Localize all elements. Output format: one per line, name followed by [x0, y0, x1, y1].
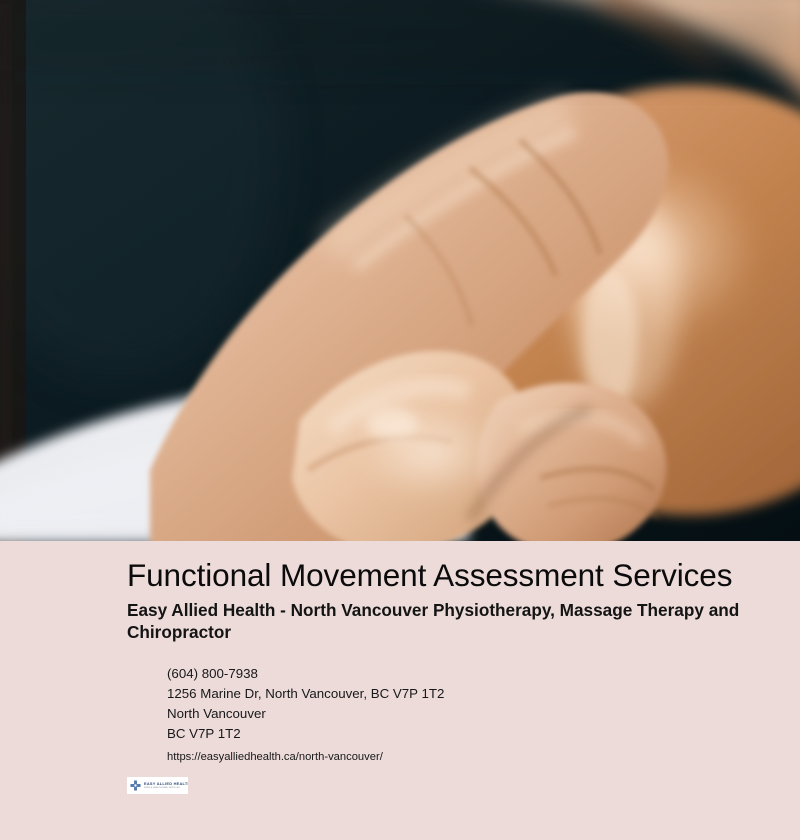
badge-tagline: MOBILE HEALTHCARE SERVICES: [144, 787, 188, 789]
brand-badge[interactable]: EASY ALLIED HEALTH MOBILE HEALTHCARE SER…: [127, 777, 188, 794]
website-url[interactable]: https://easyalliedhealth.ca/north-vancou…: [167, 744, 800, 767]
city-name: North Vancouver: [167, 704, 800, 724]
medical-cross-icon: [130, 780, 141, 791]
contact-list: (604) 800-7938 1256 Marine Dr, North Van…: [127, 644, 800, 767]
phone-number[interactable]: (604) 800-7938: [167, 664, 800, 684]
region-postal-code: BC V7P 1T2: [167, 724, 800, 744]
badge-brand-name: EASY ALLIED HEALTH: [144, 782, 188, 786]
page-title: Functional Movement Assessment Services: [127, 541, 800, 593]
listing-details: Functional Movement Assessment Services …: [0, 541, 800, 840]
hero-image: [0, 0, 800, 541]
massage-photo: [0, 0, 800, 541]
listing-page: Functional Movement Assessment Services …: [0, 0, 800, 840]
badge-text-group: EASY ALLIED HEALTH MOBILE HEALTHCARE SER…: [144, 782, 188, 789]
street-address: 1256 Marine Dr, North Vancouver, BC V7P …: [167, 684, 800, 704]
business-subtitle: Easy Allied Health - North Vancouver Phy…: [127, 593, 800, 644]
